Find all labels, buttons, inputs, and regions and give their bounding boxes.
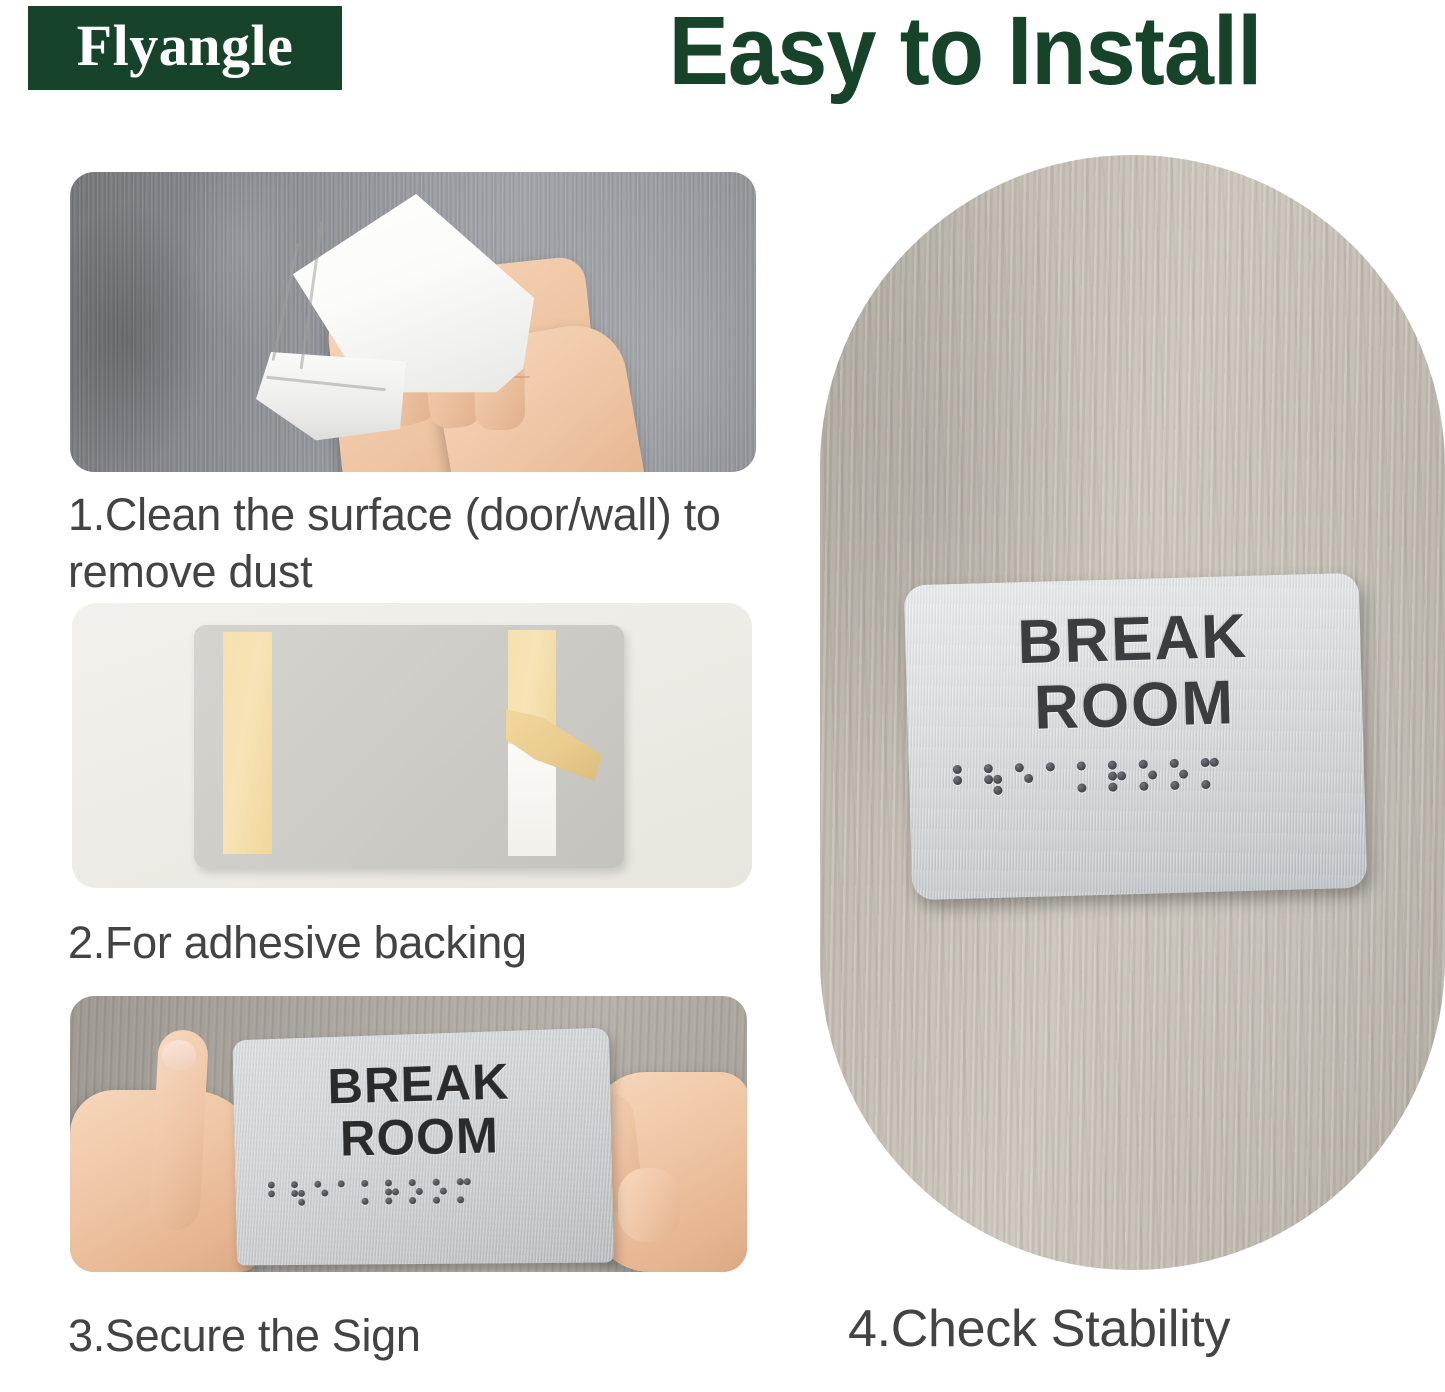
fingernail-left-index — [162, 1040, 196, 1070]
step-2-caption: 2.For adhesive backing — [68, 915, 788, 972]
braille-cell-2 — [291, 1181, 305, 1208]
braille-dot — [275, 1181, 282, 1188]
step-4-image-door-with-sign: BREAK ROOM — [820, 155, 1445, 1270]
braille-dot — [368, 1189, 375, 1196]
braille-dot — [275, 1199, 282, 1206]
braille-dot — [440, 1179, 447, 1186]
braille-dot — [953, 787, 962, 796]
braille-dot — [1077, 784, 1086, 793]
braille-dot — [1024, 763, 1033, 772]
braille-dot — [440, 1188, 447, 1195]
brand-logo-text: Flyangle — [77, 17, 294, 79]
braille-dot — [1139, 771, 1148, 780]
braille-dot — [993, 764, 1002, 773]
braille-dot — [298, 1190, 305, 1197]
braille-cell-8 — [1170, 759, 1189, 792]
braille-dot — [962, 787, 971, 796]
braille-dot — [322, 1198, 329, 1205]
break-room-sign-mounted: BREAK ROOM — [904, 573, 1368, 901]
braille-cell-3 — [1015, 763, 1034, 796]
step-3-image-secure-sign: BREAK ROOM — [70, 996, 747, 1272]
braille-cell-9 — [457, 1178, 472, 1205]
braille-dot — [1210, 769, 1219, 778]
braille-dot — [368, 1180, 375, 1187]
braille-dot — [433, 1188, 440, 1195]
braille-cell-6 — [1108, 761, 1127, 794]
braille-dot — [321, 1190, 328, 1197]
braille-dot — [962, 776, 971, 785]
braille-cell-5 — [1077, 762, 1096, 795]
braille-cell-8 — [433, 1179, 448, 1206]
braille-dot — [1015, 775, 1024, 784]
braille-dot — [993, 786, 1002, 795]
sign-line-2: ROOM — [906, 666, 1363, 744]
braille-dot — [993, 775, 1002, 784]
braille-dot — [1108, 772, 1117, 781]
braille-dot — [984, 775, 993, 784]
braille-cell-2 — [984, 764, 1003, 797]
braille-dot — [1201, 758, 1210, 767]
braille-dot — [1086, 773, 1095, 782]
braille-dot — [1201, 780, 1210, 789]
braille-dot — [1055, 784, 1064, 793]
sign-text-block: BREAK ROOM — [232, 1027, 611, 1166]
braille-cell-1 — [268, 1181, 282, 1208]
braille-row-mounted — [909, 754, 1365, 800]
page-title: Easy to Install — [533, 2, 1398, 99]
braille-dot — [1117, 783, 1126, 792]
braille-dot — [1024, 774, 1033, 783]
braille-dot — [1179, 759, 1188, 768]
braille-dot — [1170, 781, 1179, 790]
braille-cell-4 — [1046, 762, 1065, 795]
braille-dot — [275, 1190, 282, 1197]
braille-dot — [369, 1198, 376, 1205]
braille-cell-5 — [361, 1180, 375, 1207]
braille-row-held — [235, 1176, 612, 1209]
sign-text-block: BREAK ROOM — [904, 573, 1363, 745]
braille-dot — [1046, 774, 1055, 783]
braille-dot — [392, 1197, 399, 1204]
braille-cell-4 — [338, 1180, 352, 1207]
braille-dot — [1108, 761, 1117, 770]
braille-dot — [1015, 786, 1024, 795]
braille-dot — [1148, 760, 1157, 769]
adhesive-strip-left — [223, 632, 272, 854]
braille-dot — [1046, 785, 1055, 794]
braille-dot — [1055, 762, 1064, 771]
braille-cell-6 — [385, 1179, 399, 1206]
finger-right-knuckle — [618, 1168, 680, 1242]
braille-dot — [1201, 769, 1210, 778]
braille-dot — [464, 1196, 471, 1203]
step-3-caption: 3.Secure the Sign — [68, 1308, 788, 1365]
braille-dot — [1046, 763, 1055, 772]
step-4-caption: 4.Check Stability — [848, 1297, 1445, 1363]
braille-dot — [416, 1197, 423, 1204]
braille-dot — [953, 776, 962, 785]
step-2-image-adhesive-backing — [72, 603, 752, 888]
step-1-image-clean-surface — [70, 172, 756, 472]
braille-cell-7 — [1139, 760, 1158, 793]
braille-cell-7 — [409, 1179, 423, 1206]
braille-dot — [1077, 773, 1086, 782]
braille-dot — [1170, 770, 1179, 779]
brand-logo: Flyangle — [28, 6, 342, 90]
braille-dot — [1077, 762, 1086, 771]
braille-dot — [1108, 783, 1117, 792]
braille-dot — [1015, 764, 1024, 773]
sign-line-1: BREAK — [233, 1052, 611, 1115]
braille-dot — [345, 1180, 352, 1187]
braille-dot — [1148, 771, 1157, 780]
braille-dot — [416, 1179, 423, 1186]
braille-dot — [392, 1188, 399, 1195]
braille-dot — [1179, 770, 1188, 779]
braille-cell-1 — [953, 765, 972, 798]
braille-dot — [1055, 773, 1064, 782]
braille-dot — [1024, 785, 1033, 794]
braille-dot — [1139, 782, 1148, 791]
braille-dot — [345, 1189, 352, 1196]
braille-dot — [345, 1198, 352, 1205]
braille-dot — [1210, 780, 1219, 789]
braille-dot — [1210, 758, 1219, 767]
braille-dot — [1139, 760, 1148, 769]
braille-dot — [321, 1181, 328, 1188]
braille-dot — [416, 1188, 423, 1195]
infographic-page: Flyangle Easy to Install 1.Clean the sur… — [0, 0, 1445, 1392]
braille-dot — [392, 1179, 399, 1186]
braille-dot — [1086, 762, 1095, 771]
braille-dot — [953, 765, 962, 774]
break-room-sign-in-hands: BREAK ROOM — [232, 1027, 613, 1265]
braille-dot — [962, 765, 971, 774]
braille-dot — [984, 786, 993, 795]
braille-dot — [1170, 759, 1179, 768]
braille-dot — [440, 1197, 447, 1204]
braille-dot — [1086, 784, 1095, 793]
braille-cell-3 — [314, 1181, 328, 1208]
braille-dot — [1179, 781, 1188, 790]
braille-dot — [1117, 761, 1126, 770]
braille-dot — [984, 764, 993, 773]
braille-dot — [1148, 782, 1157, 791]
braille-dot — [1117, 772, 1126, 781]
sign-line-2: ROOM — [234, 1106, 612, 1167]
braille-dot — [298, 1199, 305, 1206]
braille-dot — [457, 1178, 464, 1185]
braille-dot — [464, 1187, 471, 1194]
step-1-caption: 1.Clean the surface (door/wall) to remov… — [68, 487, 788, 600]
braille-cell-9 — [1201, 758, 1220, 791]
braille-dot — [464, 1178, 471, 1185]
braille-dot — [298, 1181, 305, 1188]
